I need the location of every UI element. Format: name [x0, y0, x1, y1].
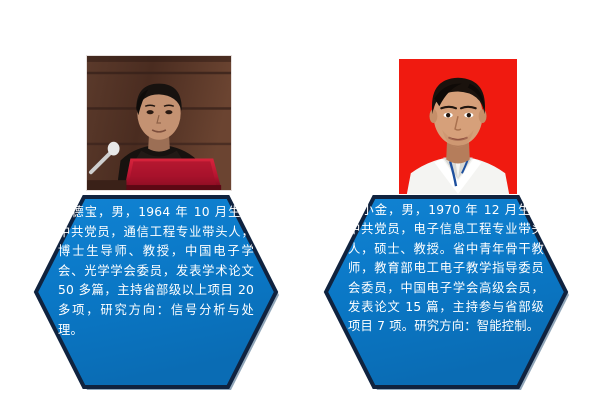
profile-hexagon[interactable]: 邹小金，男，1970 年 12 月生，中共党员，电子信息工程专业带头人，硕士、教…: [322, 193, 570, 391]
slide-canvas: 马德宝，男，1964 年 10 月生，中共党员，通信工程专业带头人，博士生导师、…: [0, 0, 600, 400]
profile-photo-frame[interactable]: [398, 58, 518, 195]
profile-bio-text: 马德宝，男，1964 年 10 月生，中共党员，通信工程专业带头人，博士生导师、…: [58, 203, 254, 381]
portrait-photo: [87, 56, 231, 190]
profile-card-zou-xiaojin[interactable]: 邹小金，男，1970 年 12 月生，中共党员，电子信息工程专业带头人，硕士、教…: [320, 50, 570, 395]
profile-photo-frame[interactable]: [86, 55, 232, 191]
profile-bio-text: 邹小金，男，1970 年 12 月生，中共党员，电子信息工程专业带头人，硕士、教…: [348, 201, 544, 379]
profile-card-ma-debao[interactable]: 马德宝，男，1964 年 10 月生，中共党员，通信工程专业带头人，博士生导师、…: [30, 50, 280, 395]
profile-hexagon[interactable]: 马德宝，男，1964 年 10 月生，中共党员，通信工程专业带头人，博士生导师、…: [32, 193, 280, 391]
portrait-photo: [399, 59, 517, 194]
